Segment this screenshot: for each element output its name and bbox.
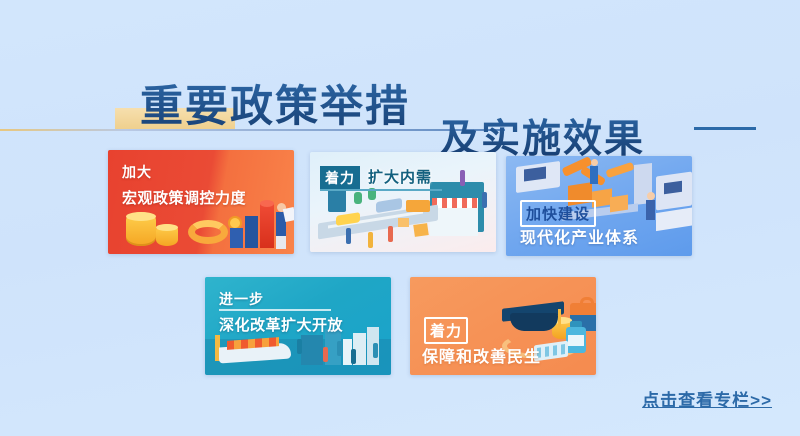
person-icon (346, 228, 351, 244)
card-modern-industry-text: 现代化产业体系 (520, 224, 639, 248)
robot-arm-icon (605, 162, 634, 178)
view-column-link[interactable]: 点击查看专栏>> (642, 386, 772, 411)
title-rule-right (694, 127, 756, 130)
skyline-icon (301, 335, 323, 365)
card-improve-livelihood-tag: 着力 (424, 317, 468, 344)
card-macro-policy-line-b: 宏观政策调控力度 (122, 187, 246, 208)
card-expand-demand-text: 扩大内需 (368, 166, 432, 187)
card-deepen-reform-line-b: 深化改革扩大开放 (219, 314, 343, 335)
card-macro-policy-line-a: 加大 (122, 162, 246, 182)
card-deepen-reform[interactable]: 进一步 深化改革扩大开放 (205, 277, 391, 375)
person-icon (368, 232, 373, 248)
worker-icon (646, 200, 655, 220)
person-icon (351, 349, 356, 364)
parcel-box-icon (610, 195, 628, 213)
worker-icon (590, 166, 598, 184)
card-deepen-reform-text: 进一步 深化改革扩大开放 (219, 289, 343, 335)
card-deepen-reform-underline (219, 309, 331, 311)
graduation-cap-tassel-icon (558, 309, 561, 327)
card-improve-livelihood[interactable]: 着力 保障和改善民生 (410, 277, 596, 375)
storefront-icon (432, 198, 478, 208)
card-macro-policy-text: 加大 宏观政策调控力度 (122, 162, 246, 208)
person-icon (276, 235, 286, 249)
bar-chart-icon (260, 204, 274, 248)
card-improve-livelihood-text: 保障和改善民生 (422, 343, 541, 367)
person-icon (373, 343, 378, 358)
factory-base-icon (656, 207, 692, 231)
card-expand-demand-tag: 着力 (320, 166, 360, 190)
parcel-box-icon (413, 223, 429, 237)
card-expand-demand-underline (320, 189, 442, 191)
coin-stack-small-icon (156, 224, 178, 246)
medicine-label-icon (568, 335, 584, 346)
person-icon (388, 226, 393, 242)
gold-torus-icon (188, 220, 228, 244)
graduation-cap-icon (510, 313, 558, 331)
card-expand-demand[interactable]: 着力 扩大内需 (310, 152, 496, 252)
parcel-box-icon (398, 218, 409, 227)
clipboard-icon (283, 207, 294, 222)
page-title-block: 重要政策举措 及实施效果 (0, 30, 800, 135)
card-deepen-reform-line-a: 进一步 (219, 289, 343, 309)
coin-stack-icon (126, 212, 156, 246)
worker-icon (647, 192, 655, 200)
card-modern-industry[interactable]: 加快建设 现代化产业体系 (506, 156, 692, 256)
worker-icon (591, 159, 598, 166)
bar-chart-icon (245, 216, 258, 248)
person-icon (323, 347, 328, 362)
tree-icon (354, 192, 362, 204)
person-icon (337, 341, 342, 356)
card-macro-policy[interactable]: 加大 宏观政策调控力度 (108, 150, 294, 254)
delivery-truck-icon (406, 200, 430, 212)
person-icon (460, 170, 465, 186)
person-icon (297, 339, 302, 354)
person-icon (482, 192, 487, 208)
page-title: 重要政策举措 (140, 72, 410, 134)
card-modern-industry-tag: 加快建设 (520, 200, 596, 227)
bar-chart-icon (230, 228, 243, 248)
